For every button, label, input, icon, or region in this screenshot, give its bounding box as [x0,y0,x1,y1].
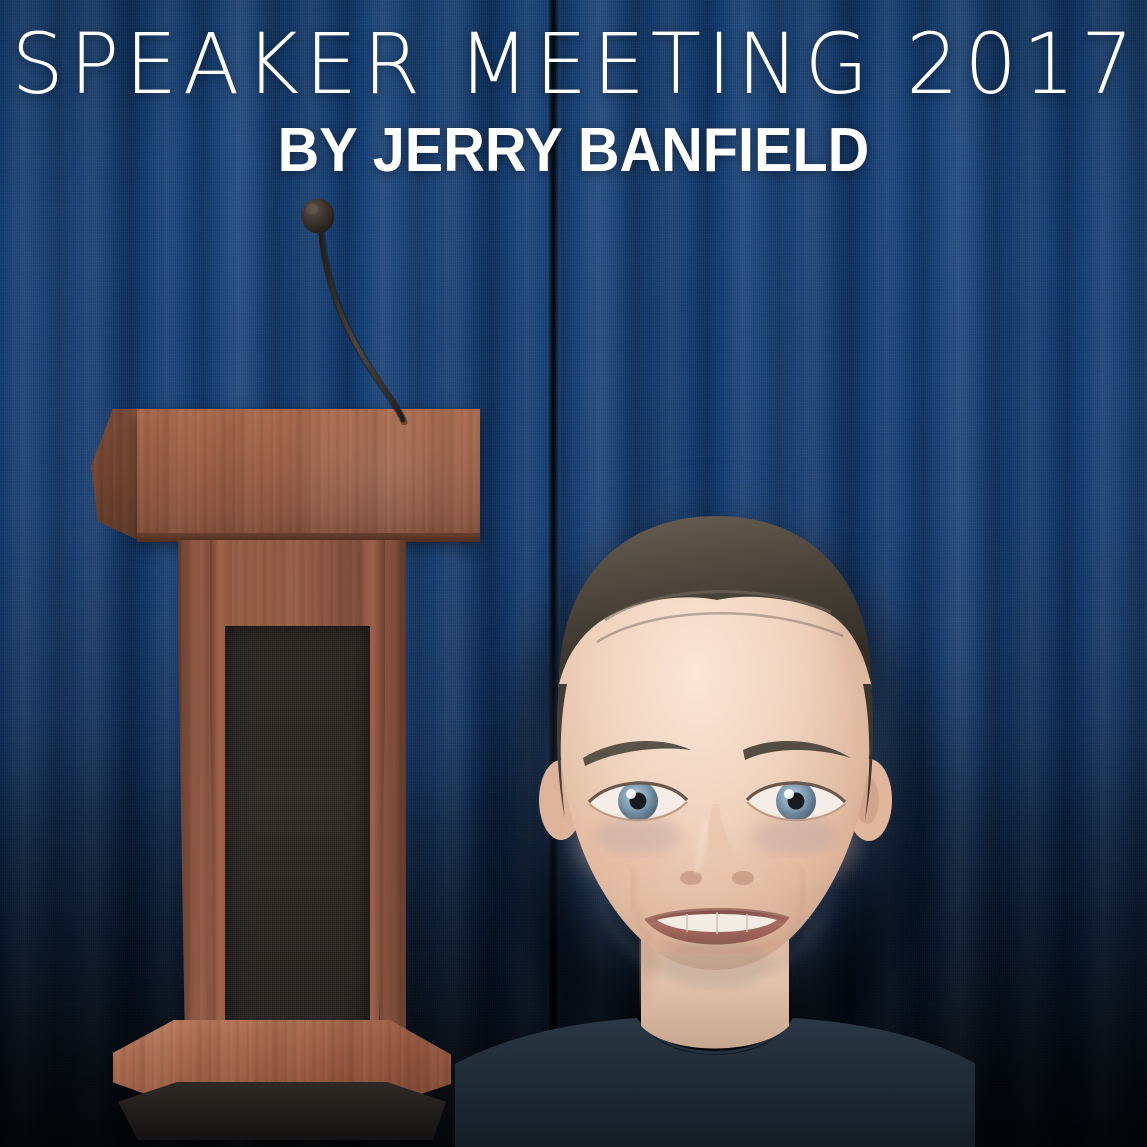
presenter-figure [455,470,975,1147]
presenter-portrait [455,470,975,1147]
poster-canvas: SPEAKER MEETING 2017 BY JERRY BANFIELD [0,0,1147,1147]
gooseneck-microphone [280,190,470,425]
